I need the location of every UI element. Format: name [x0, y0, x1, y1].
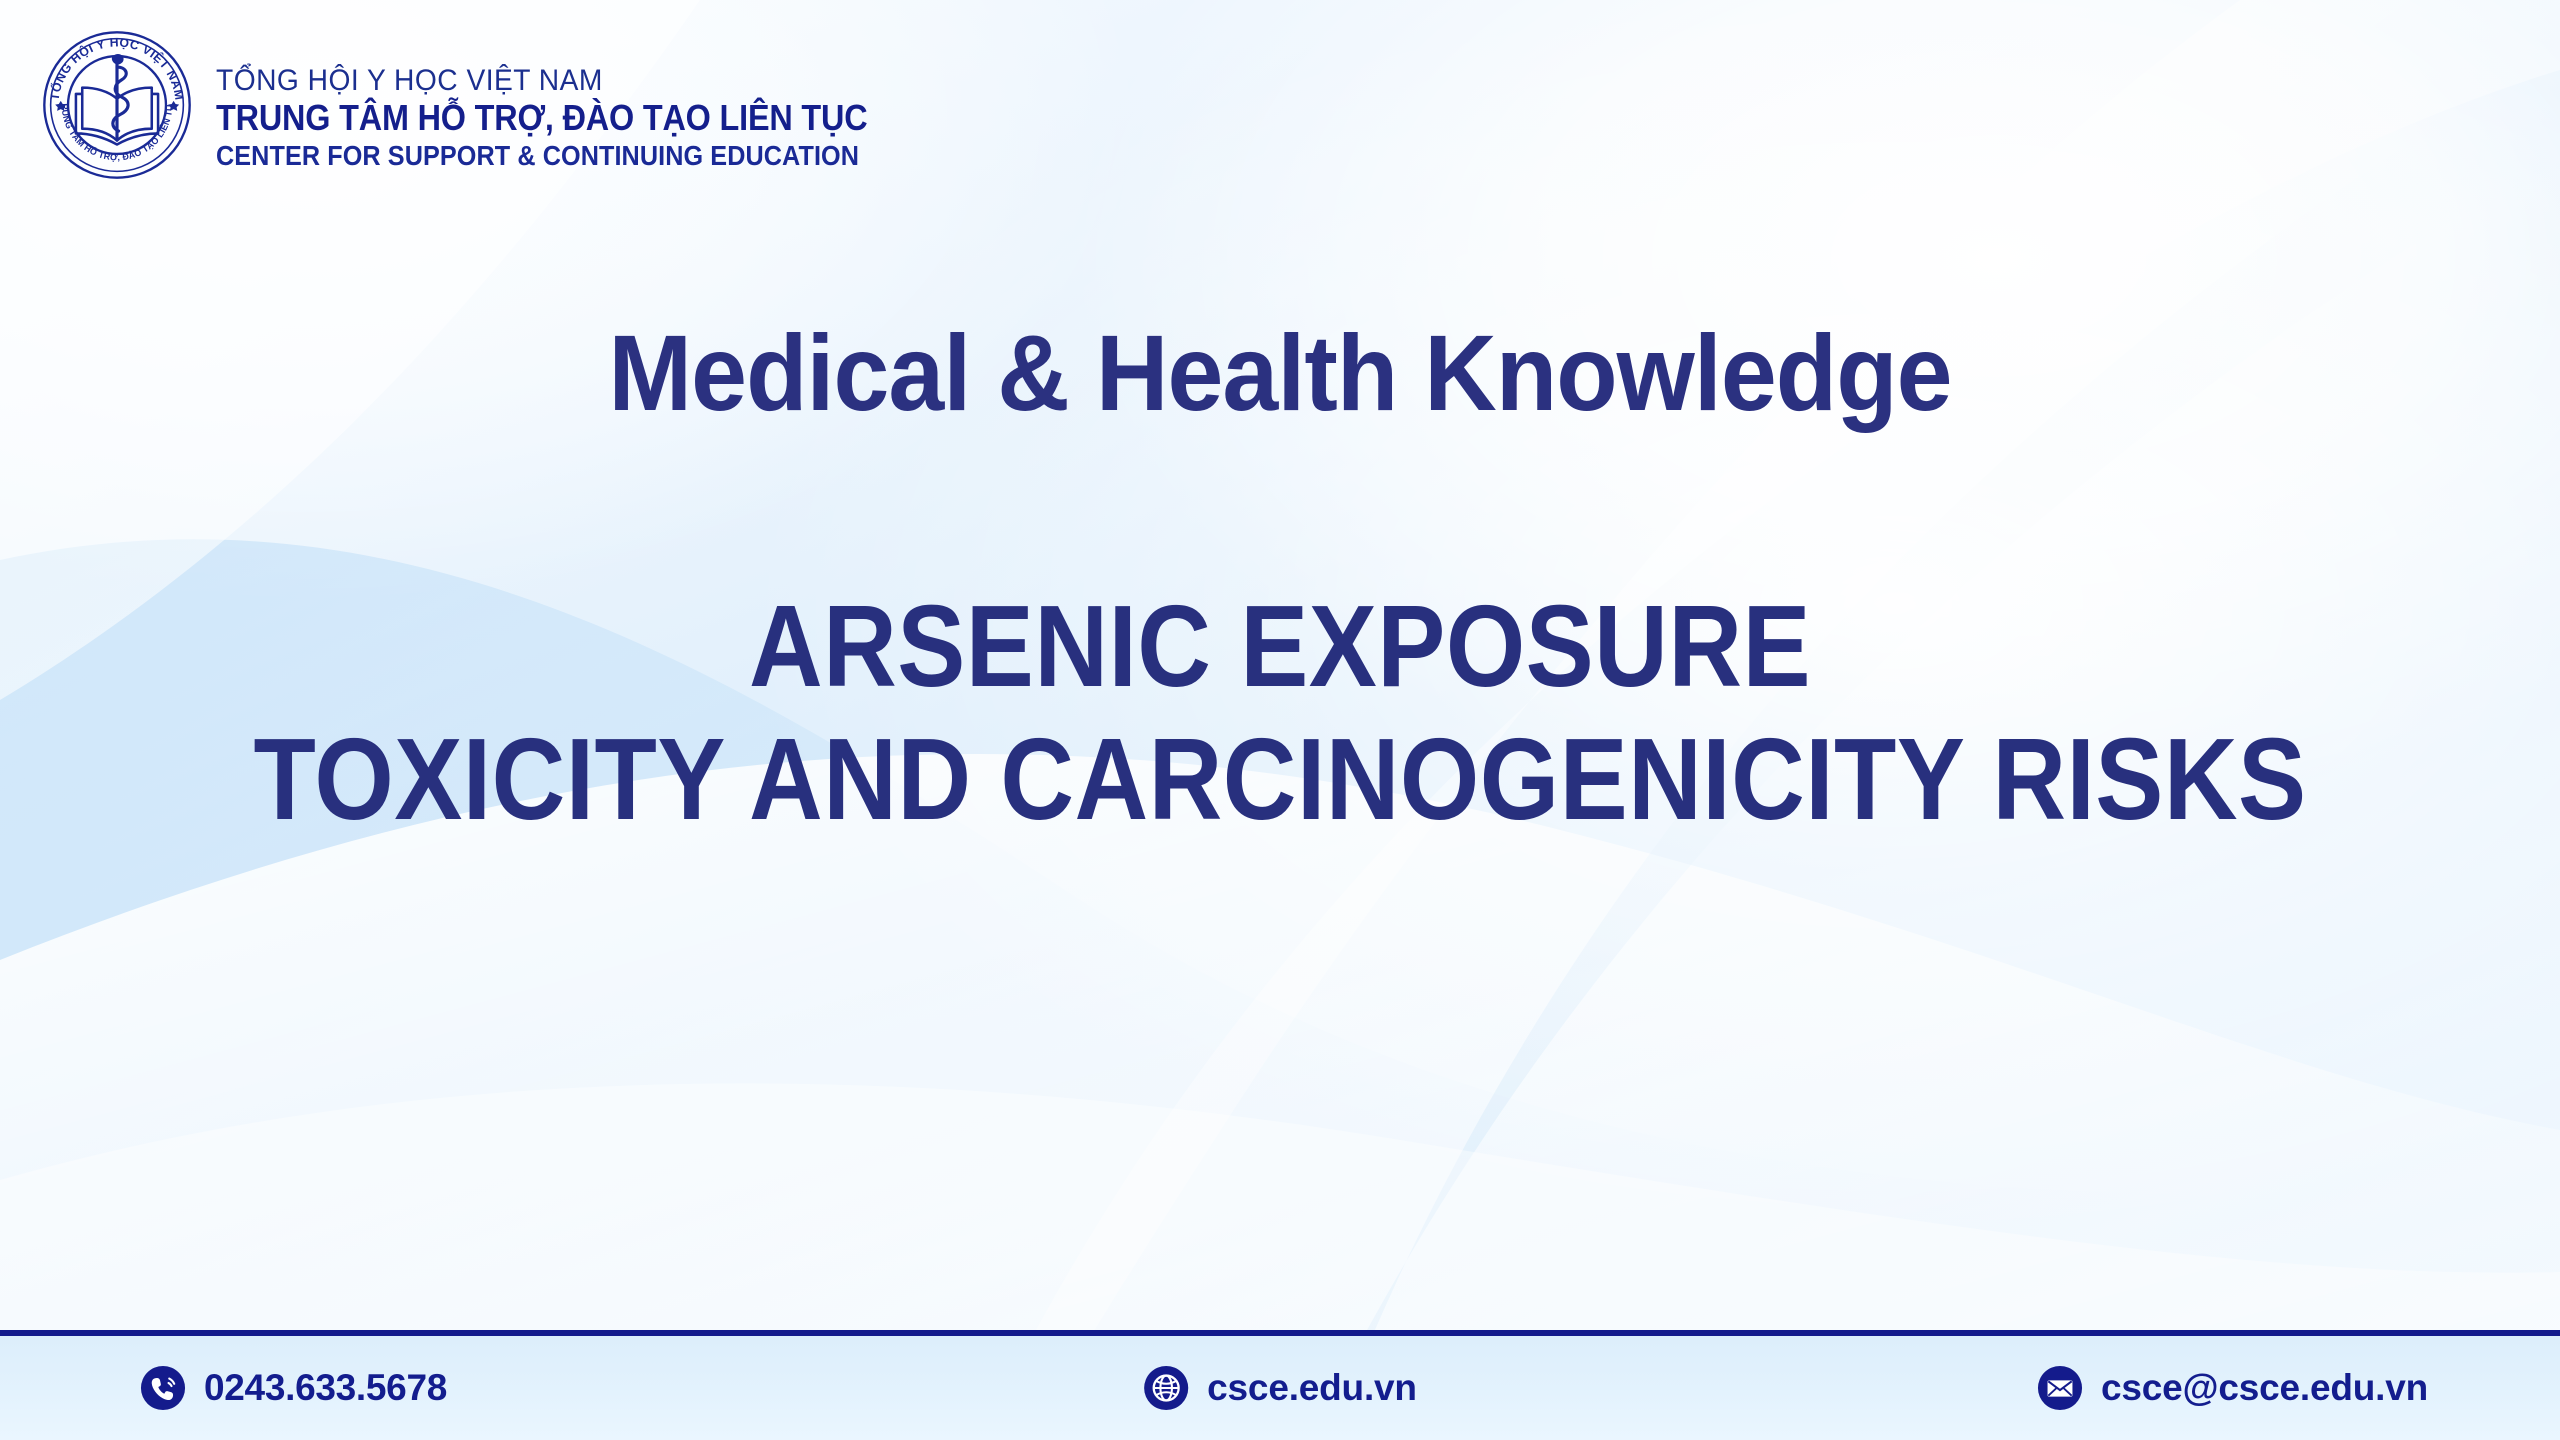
brand-text-block: TỔNG HỘI Y HỌC VIỆT NAM TRUNG TÂM HỖ TRỢ…: [216, 38, 940, 172]
slide-content: Medical & Health Knowledge ARSENIC EXPOS…: [0, 0, 2560, 1330]
footer-contact-phone[interactable]: 0243.633.5678: [140, 1365, 447, 1411]
footer-contact-website[interactable]: csce.edu.vn: [1143, 1365, 1417, 1411]
footer-phone-label: 0243.633.5678: [204, 1367, 447, 1409]
title-slide: TỔNG HỘI Y HỌC VIỆT NAM TRUNG TÂM HỖ TRỢ…: [0, 0, 2560, 1440]
footer-website-label: csce.edu.vn: [1207, 1367, 1417, 1409]
footer-contact-email[interactable]: csce@csce.edu.vn: [2037, 1365, 2428, 1411]
slide-footer: 0243.633.5678 csce.edu.vn csce@csce.edu.…: [0, 1330, 2560, 1440]
globe-icon: [1143, 1365, 1189, 1411]
phone-icon: [140, 1365, 186, 1411]
slide-title: ARSENIC EXPOSURE TOXICITY AND CARCINOGEN…: [0, 580, 2560, 847]
brand-line-center-vi: TRUNG TÂM HỖ TRỢ, ĐÀO TẠO LIÊN TỤC: [216, 97, 867, 138]
email-icon: [2037, 1365, 2083, 1411]
title-line-2: TOXICITY AND CARCINOGENICITY RISKS: [154, 713, 2407, 846]
brand-line-association: TỔNG HỘI Y HỌC VIỆT NAM: [216, 64, 896, 98]
footer-email-label: csce@csce.edu.vn: [2101, 1367, 2428, 1409]
brand-line-center-en: CENTER FOR SUPPORT & CONTINUING EDUCATIO…: [216, 139, 867, 173]
organization-seal-icon: TỔNG HỘI Y HỌC VIỆT NAM TRUNG TÂM HỖ TRỢ…: [38, 26, 196, 184]
slide-kicker: Medical & Health Knowledge: [90, 310, 2471, 435]
brand-lockup: TỔNG HỘI Y HỌC VIỆT NAM TRUNG TÂM HỖ TRỢ…: [38, 26, 940, 184]
title-line-1: ARSENIC EXPOSURE: [154, 580, 2407, 713]
